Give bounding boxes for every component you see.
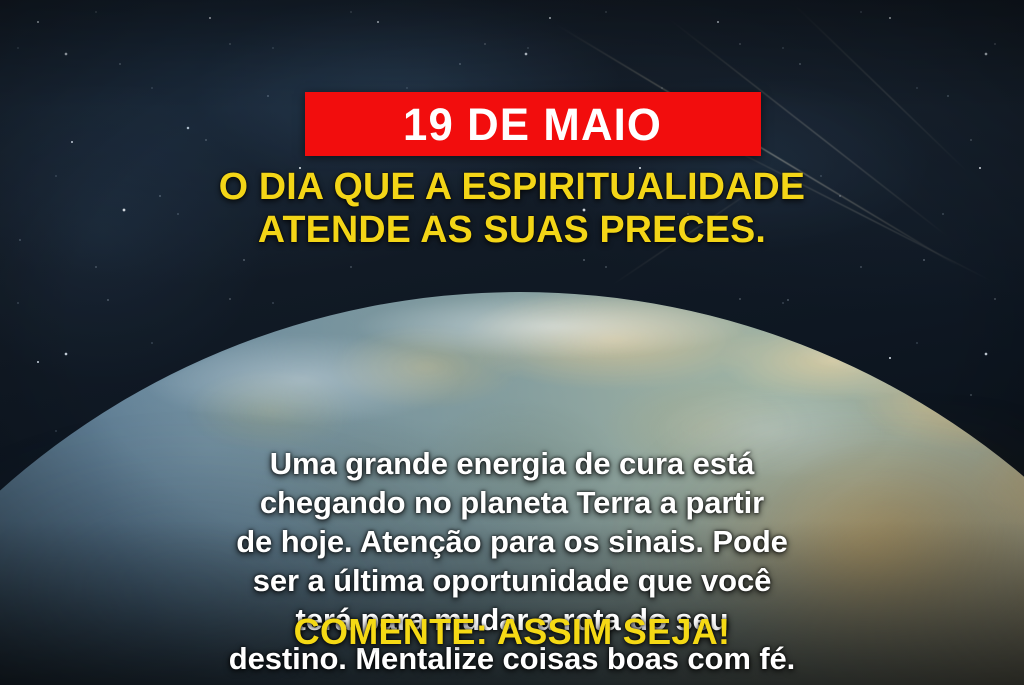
call-to-action-label: COMENTE: ASSIM SEJA! [294,611,731,652]
date-banner-label: 19 DE MAIO [403,102,662,147]
body-line-1: Uma grande energia de cura está [62,444,962,483]
headline-line-1: O DIA QUE A ESPIRITUALIDADE [5,166,1019,209]
body-line-4: ser a última oportunidade que você [62,561,962,600]
poster-canvas: 19 DE MAIO O DIA QUE A ESPIRITUALIDADE A… [0,0,1024,685]
body-line-2: chegando no planeta Terra a partir [62,483,962,522]
poster-content: 19 DE MAIO O DIA QUE A ESPIRITUALIDADE A… [0,0,1024,685]
headline: O DIA QUE A ESPIRITUALIDADE ATENDE AS SU… [0,166,1024,251]
headline-line-2: ATENDE AS SUAS PRECES. [5,209,1019,252]
call-to-action: COMENTE: ASSIM SEJA! [0,613,1024,651]
date-banner: 19 DE MAIO [305,92,761,156]
body-line-3: de hoje. Atenção para os sinais. Pode [62,522,962,561]
